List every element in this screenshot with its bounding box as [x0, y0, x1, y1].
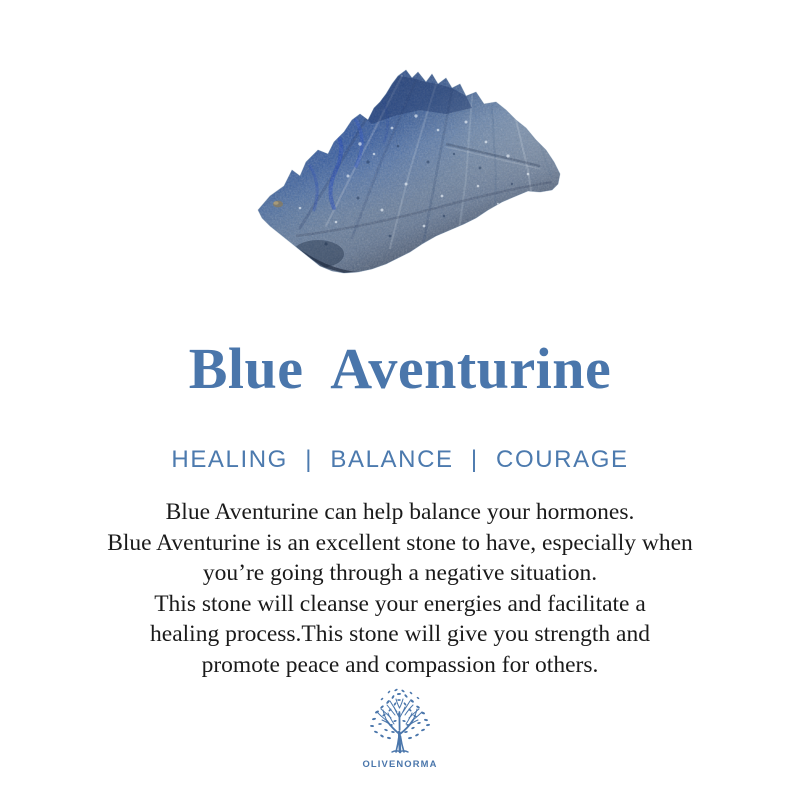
keyword-courage: COURAGE: [496, 446, 629, 473]
description-line-1: Blue Aventurine can help balance your ho…: [24, 497, 776, 528]
keyword-healing: HEALING: [171, 446, 288, 473]
description-block: Blue Aventurine can help balance your ho…: [24, 497, 776, 680]
keyword-separator-1: |: [296, 446, 322, 473]
description-line-5: healing process.This stone will give you…: [24, 619, 776, 650]
crystal-info-card: Blue Aventurine HEALING | BALANCE | COUR…: [0, 0, 800, 800]
description-line-3: you’re going through a negative situatio…: [24, 558, 776, 589]
description-line-2: Blue Aventurine is an excellent stone to…: [24, 528, 776, 559]
description-line-6: promote peace and compassion for others.: [24, 650, 776, 681]
description-line-4: This stone will cleanse your energies an…: [24, 589, 776, 620]
olive-tree-icon: [362, 688, 438, 756]
keyword-balance: BALANCE: [330, 446, 453, 473]
stone-image-container: [0, 0, 800, 300]
keyword-row: HEALING | BALANCE | COURAGE: [0, 445, 800, 475]
brand-logo: OLIVENORMA: [0, 688, 800, 788]
blue-aventurine-stone: [240, 58, 580, 283]
page-title: Blue Aventurine: [0, 336, 800, 402]
keyword-separator-2: |: [462, 446, 488, 473]
brand-wordmark: OLIVENORMA: [354, 758, 446, 769]
